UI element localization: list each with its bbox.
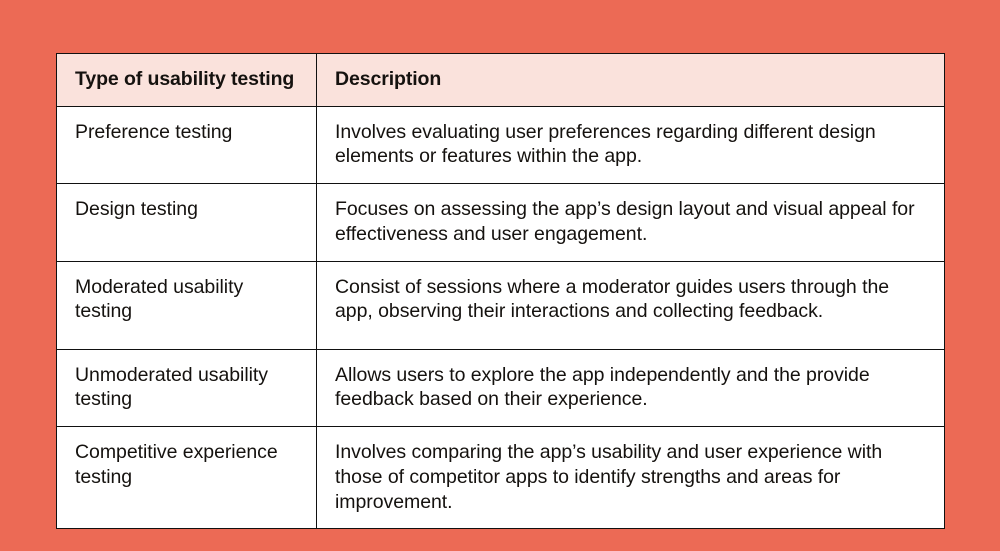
- table-row: Unmoderated usability testing Allows use…: [57, 349, 945, 427]
- cell-testing-type: Unmoderated usability testing: [57, 349, 317, 427]
- table-header: Type of usability testing Description: [57, 54, 945, 107]
- table-body: Preference testing Involves evaluating u…: [57, 106, 945, 529]
- cell-testing-type: Design testing: [57, 184, 317, 262]
- cell-testing-type: Competitive experience testing: [57, 427, 317, 529]
- table-row: Competitive experience testing Involves …: [57, 427, 945, 529]
- cell-testing-description: Focuses on assessing the app’s design la…: [317, 184, 945, 262]
- cell-testing-description: Consist of sessions where a moderator gu…: [317, 261, 945, 349]
- table-header-row: Type of usability testing Description: [57, 54, 945, 107]
- page-canvas: Type of usability testing Description Pr…: [0, 0, 1000, 551]
- column-header-type: Type of usability testing: [57, 54, 317, 107]
- table-row: Moderated usability testing Consist of s…: [57, 261, 945, 349]
- cell-testing-description: Involves evaluating user preferences reg…: [317, 106, 945, 184]
- usability-testing-table: Type of usability testing Description Pr…: [56, 53, 945, 529]
- usability-testing-table-container: Type of usability testing Description Pr…: [56, 53, 944, 497]
- cell-testing-description: Allows users to explore the app independ…: [317, 349, 945, 427]
- table-row: Preference testing Involves evaluating u…: [57, 106, 945, 184]
- cell-testing-type: Moderated usability testing: [57, 261, 317, 349]
- cell-testing-type: Preference testing: [57, 106, 317, 184]
- table-row: Design testing Focuses on assessing the …: [57, 184, 945, 262]
- column-header-description: Description: [317, 54, 945, 107]
- cell-testing-description: Involves comparing the app’s usability a…: [317, 427, 945, 529]
